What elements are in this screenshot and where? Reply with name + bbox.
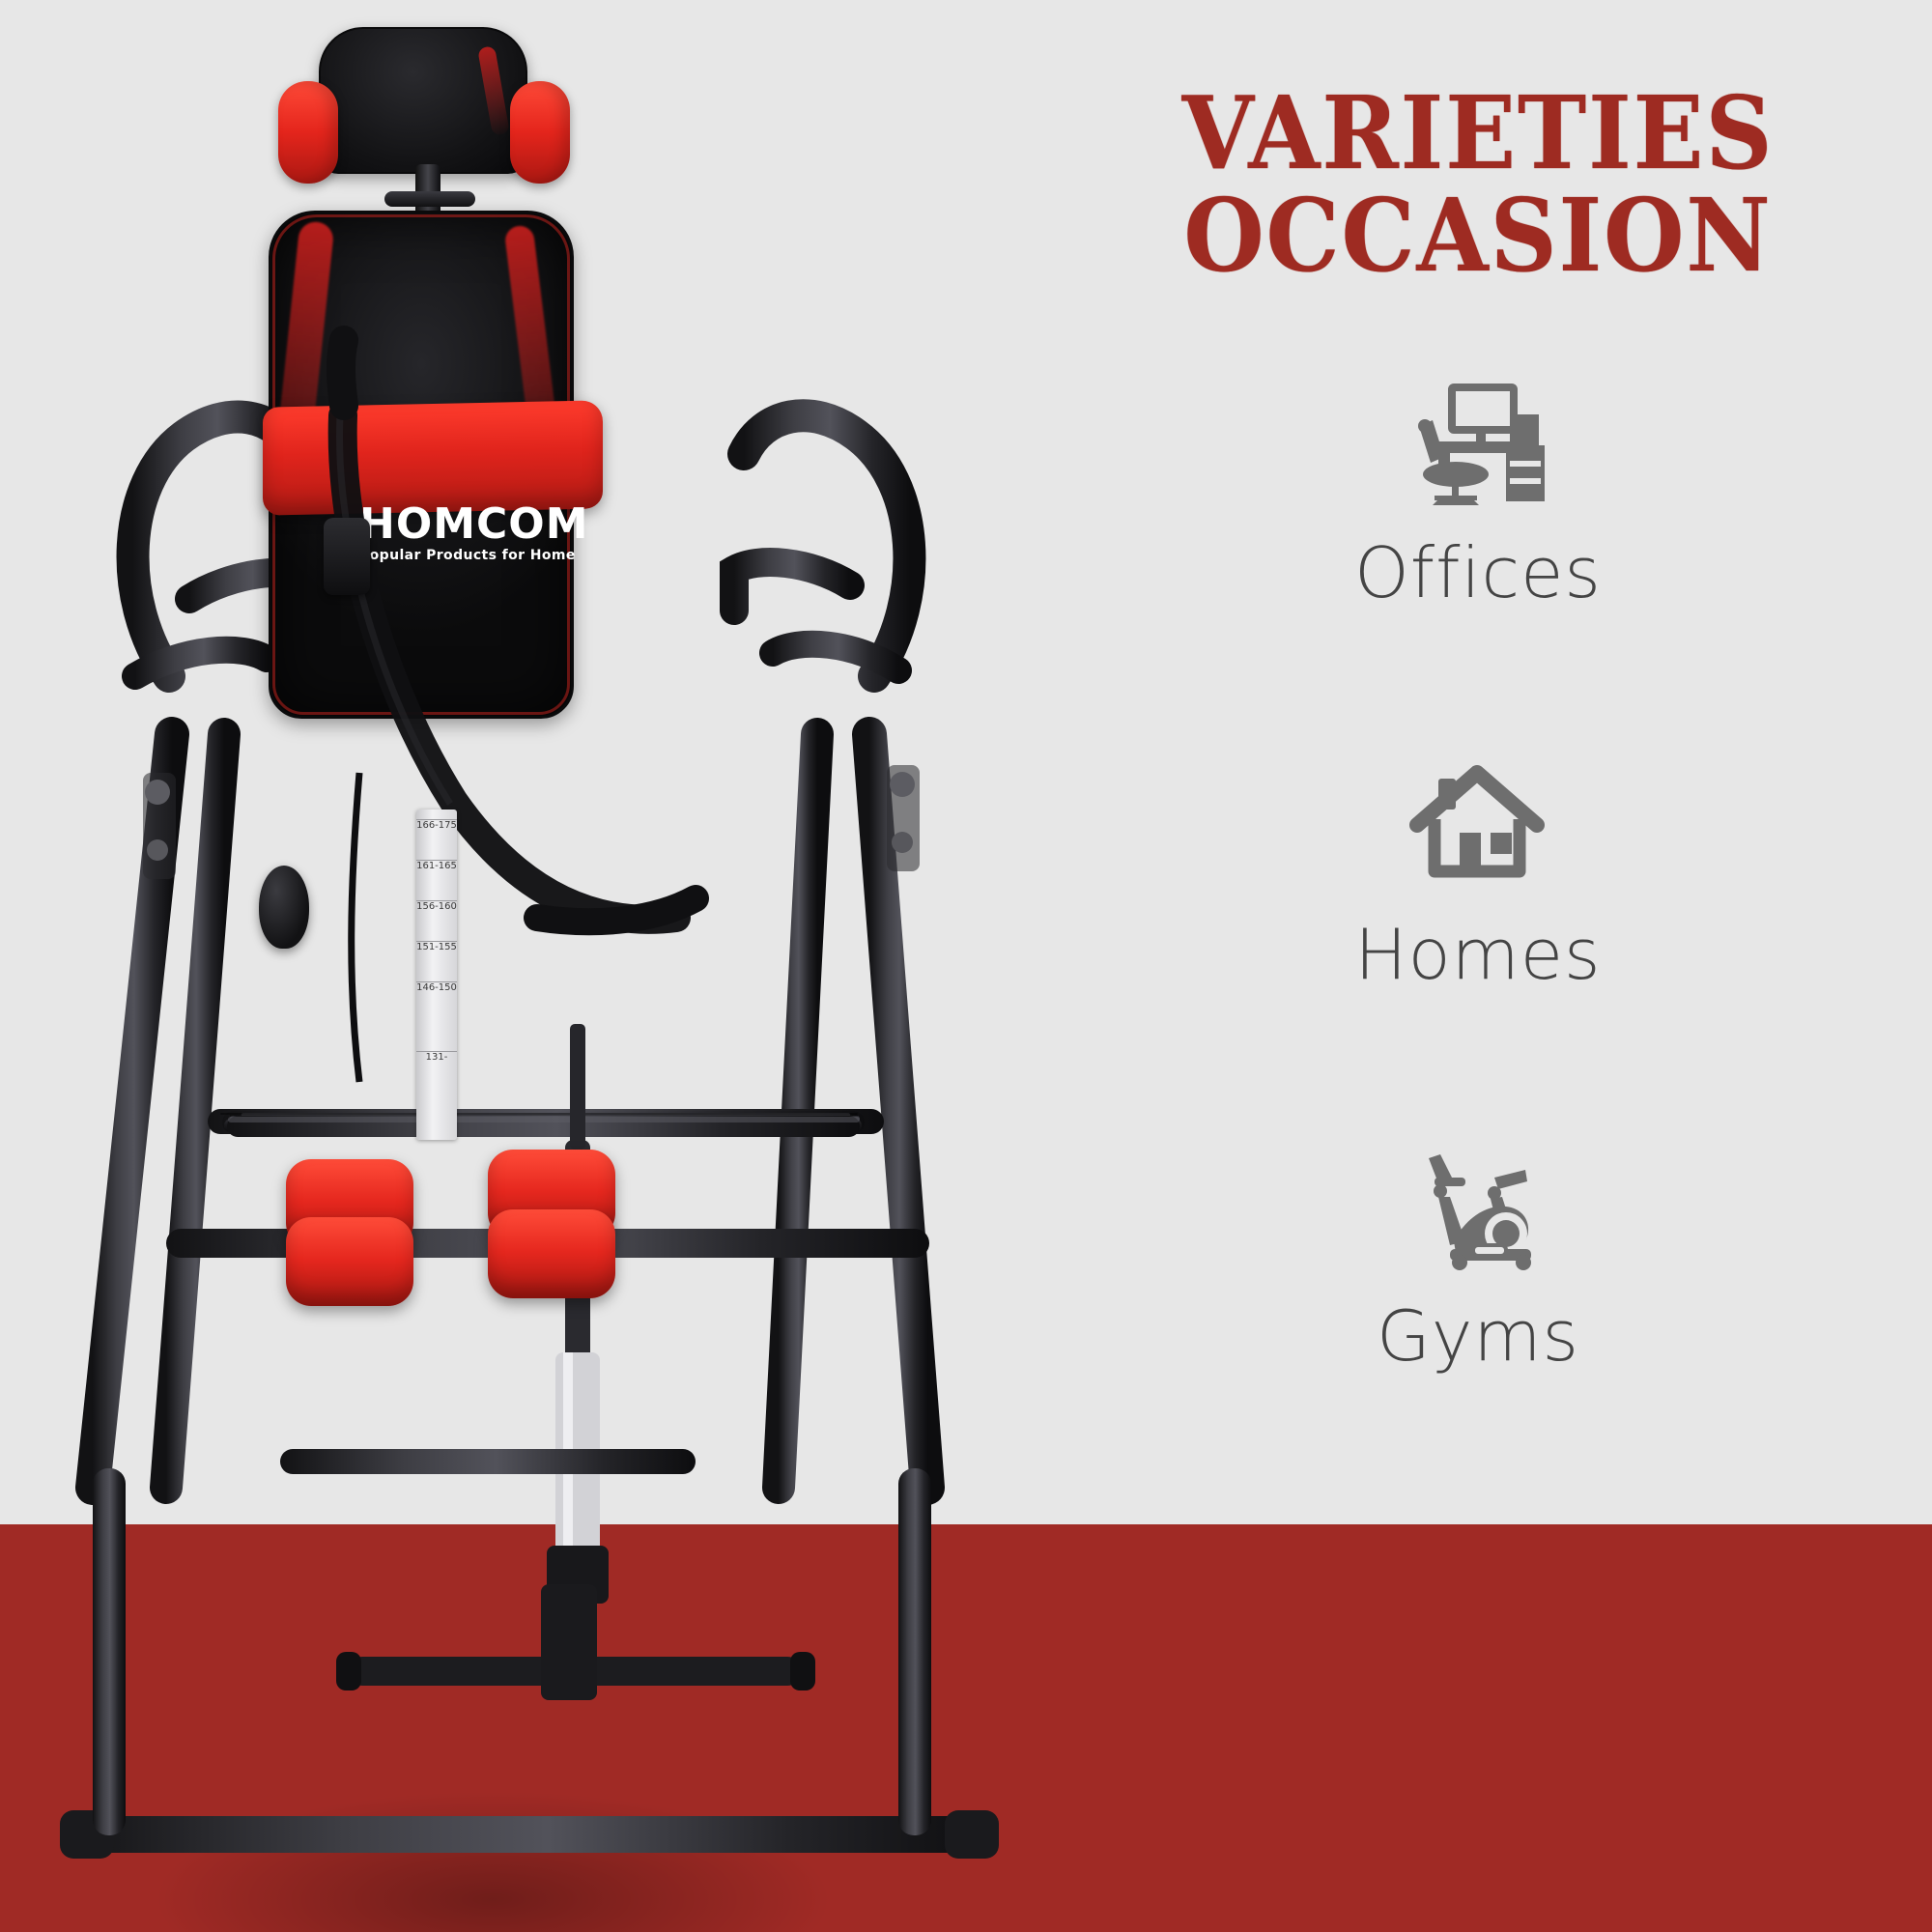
brand-logo-text: HOMCOM [359, 502, 601, 547]
headline-line-2: OCCASION [1061, 185, 1896, 287]
house-icon [1024, 763, 1932, 889]
height-adjustment-scale: 166-175 161-165 156-160 151-155 146-150 … [416, 810, 457, 1140]
brand-logo: HOMCOM Popular Products for Home [359, 502, 601, 564]
headrest-roller-left [278, 81, 338, 184]
right-content-column: VARIETIES OCCASION [1024, 0, 1932, 1526]
occasion-item-gyms: Gyms [1024, 1145, 1932, 1526]
occasions-list: Offices [1024, 382, 1932, 1526]
product-photo-inversion-table: HOMCOM Popular Products for Home 166-175… [0, 0, 1024, 1932]
scale-label: 161-165 [416, 860, 457, 871]
occasion-label-offices: Offices [1024, 532, 1932, 613]
poster-canvas: HOMCOM Popular Products for Home 166-175… [0, 0, 1932, 1932]
scale-label: 166-175 [416, 819, 457, 831]
headrest-pad [319, 27, 527, 174]
page-headline: VARIETIES OCCASION [1061, 82, 1896, 287]
scale-label: 156-160 [416, 900, 457, 912]
air-pump-bulb [259, 866, 309, 949]
brand-tagline: Popular Products for Home [359, 547, 601, 564]
occasion-item-offices: Offices [1024, 382, 1932, 763]
occasion-label-gyms: Gyms [1024, 1295, 1932, 1377]
scale-label: 151-155 [416, 941, 457, 952]
strap-buckle [324, 518, 370, 595]
office-desk-icon [1024, 382, 1932, 507]
lumbar-support-pad [263, 400, 603, 515]
headrest-mount-bar [384, 191, 475, 207]
occasion-item-homes: Homes [1024, 763, 1932, 1145]
ankle-roller-rear-left [286, 1217, 413, 1306]
scale-label: 131- [416, 1051, 457, 1063]
exercise-bike-icon [1024, 1145, 1932, 1270]
ankle-roller-rear-right [488, 1209, 615, 1298]
scale-label: 146-150 [416, 981, 457, 993]
occasion-label-homes: Homes [1024, 914, 1932, 995]
headline-line-1: VARIETIES [1182, 73, 1775, 192]
headrest-roller-right [510, 81, 570, 184]
